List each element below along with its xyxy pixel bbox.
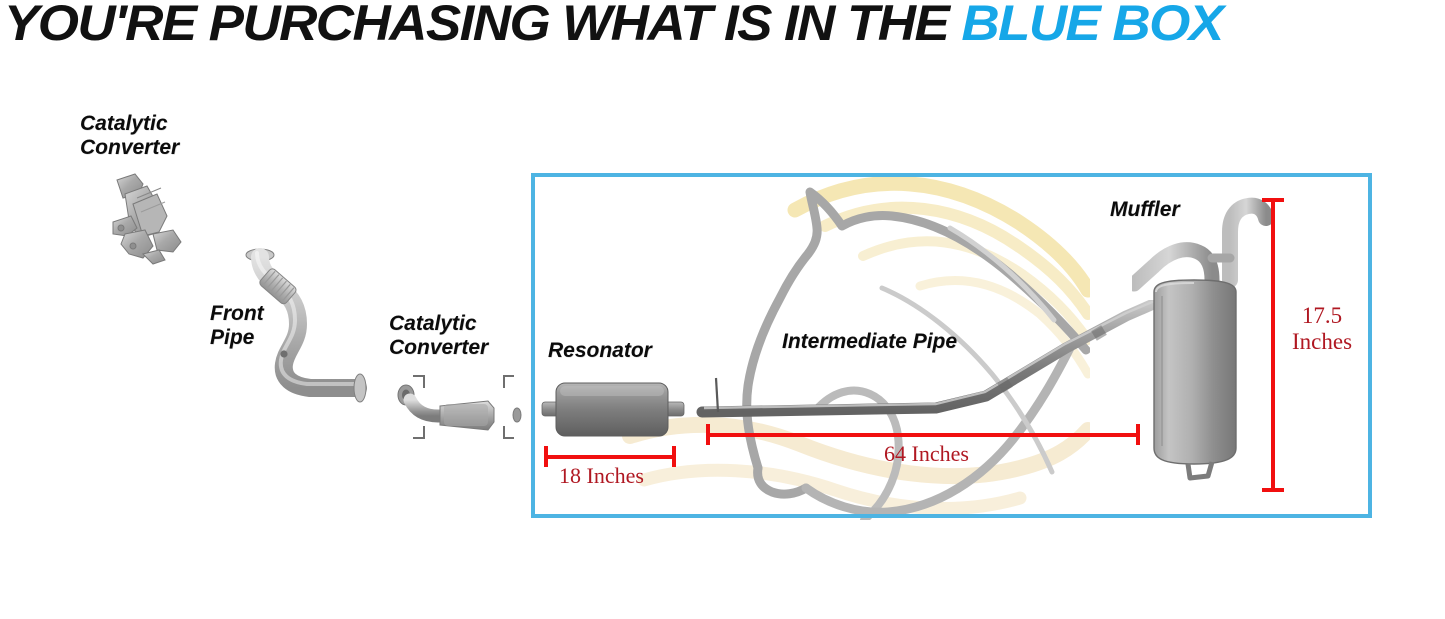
dimension-label-17-5-inches: 17.5 Inches — [1292, 303, 1352, 355]
label-catalytic-converter-1: Catalytic Converter — [80, 112, 179, 160]
title-highlight-text: BLUE BOX — [961, 0, 1222, 51]
resonator-icon — [540, 374, 686, 446]
diagram-canvas: YOU'RE PURCHASING WHAT IS IN THE BLUE BO… — [0, 0, 1445, 619]
title-main-text: YOU'RE PURCHASING WHAT IS IN THE — [4, 0, 961, 51]
dimension-label-18-inches: 18 Inches — [559, 464, 644, 489]
catalytic-converter-1-icon — [103, 168, 195, 266]
label-muffler: Muffler — [1110, 198, 1180, 222]
label-intermediate-pipe: Intermediate Pipe — [782, 330, 957, 354]
dimension-label-64-inches: 64 Inches — [884, 442, 969, 467]
label-catalytic-converter-2: Catalytic Converter — [389, 312, 488, 360]
catalytic-converter-2-icon — [384, 368, 529, 446]
page-title: YOU'RE PURCHASING WHAT IS IN THE BLUE BO… — [4, 0, 1223, 52]
intermediate-pipe-icon — [696, 300, 1166, 428]
muffler-icon — [1132, 196, 1272, 488]
label-resonator: Resonator — [548, 339, 652, 363]
label-front-pipe: Front Pipe — [210, 302, 264, 350]
title-banner: YOU'RE PURCHASING WHAT IS IN THE BLUE BO… — [0, 0, 1445, 56]
